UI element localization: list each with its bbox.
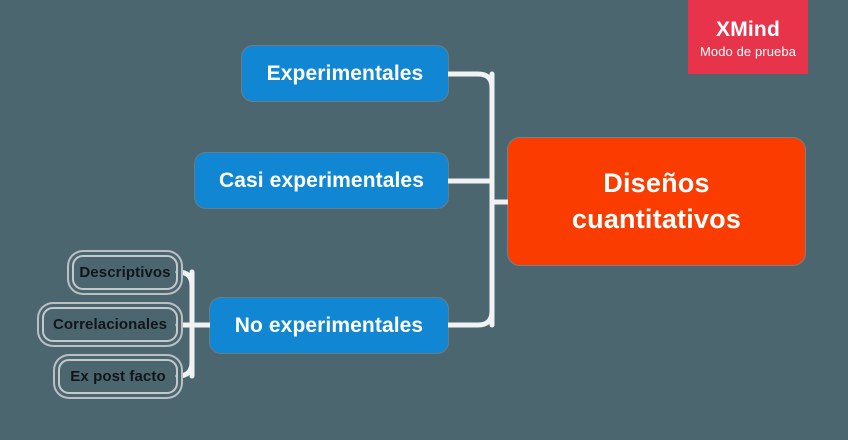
branch-node-no-experimentales-label: No experimentales	[229, 314, 429, 338]
root-node-disenos-cuantitativos[interactable]: Diseños cuantitativos	[508, 138, 805, 265]
connector-noexp-to-descriptivos	[178, 272, 192, 286]
xmind-trial-badge: XMind Modo de prueba	[688, 0, 808, 74]
xmind-trial-subtitle: Modo de prueba	[700, 44, 796, 60]
branch-node-no-experimentales[interactable]: No experimentales	[210, 298, 448, 353]
leaf-node-correlacionales-label: Correlacionales	[47, 316, 173, 333]
connector-noexp-to-ex-post-facto	[178, 362, 192, 376]
leaf-node-descriptivos-label: Descriptivos	[73, 264, 176, 281]
xmind-brand-label: XMind	[716, 18, 780, 41]
branch-node-experimentales-label: Experimentales	[261, 62, 430, 86]
leaf-node-correlacionales[interactable]: Correlacionales	[42, 307, 178, 342]
mindmap-canvas: Diseños cuantitativos Experimentales Cas…	[0, 0, 848, 440]
root-node-label: Diseños cuantitativos	[566, 166, 747, 237]
branch-node-casi-experimentales-label: Casi experimentales	[213, 169, 430, 193]
branch-node-casi-experimentales[interactable]: Casi experimentales	[195, 153, 448, 208]
branch-node-experimentales[interactable]: Experimentales	[242, 46, 448, 101]
leaf-node-descriptivos[interactable]: Descriptivos	[72, 255, 178, 290]
connector-root-to-no-experimentales	[448, 311, 492, 325]
leaf-node-ex-post-facto-label: Ex post facto	[64, 368, 171, 385]
leaf-node-ex-post-facto[interactable]: Ex post facto	[58, 359, 178, 394]
connector-root-to-experimentales	[448, 74, 492, 88]
